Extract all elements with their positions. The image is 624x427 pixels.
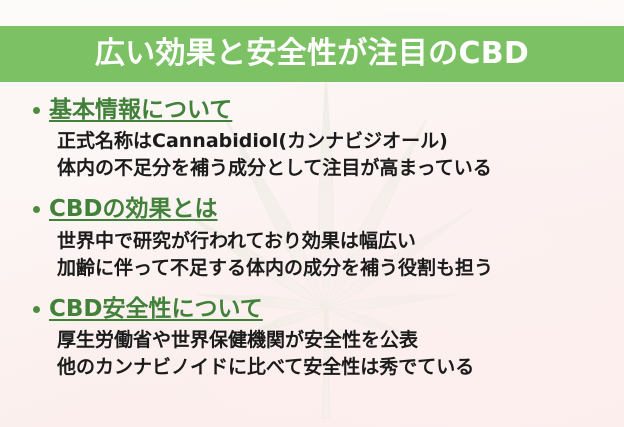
section-heading-row: 基本情報について: [0, 95, 624, 125]
body-line: 加齢に伴って不足する体内の成分を補う役割も担う: [57, 255, 624, 282]
bullet-dot-icon: [33, 206, 40, 213]
body-line: 体内の不足分を補う成分として注目が高まっている: [57, 155, 624, 182]
section-heading-row: CBD安全性について: [0, 294, 624, 324]
section-basic-info: 基本情報について 正式名称はCannabidiol(カンナビジオール) 体内の不…: [0, 95, 624, 182]
body-line: 世界中で研究が行われており効果は幅広い: [57, 228, 624, 255]
slide: 広い効果と安全性が注目のCBD 基本情報について 正式名称はCannabidio…: [0, 0, 624, 427]
section-cbd-effects: CBDの効果とは 世界中で研究が行われており効果は幅広い 加齢に伴って不足する体…: [0, 194, 624, 281]
section-cbd-safety: CBD安全性について 厚生労働省や世界保健機関が安全性を公表 他のカンナビノイド…: [0, 294, 624, 381]
bullet-dot-icon: [33, 107, 40, 114]
section-body: 正式名称はCannabidiol(カンナビジオール) 体内の不足分を補う成分とし…: [0, 128, 624, 182]
page-title: 広い効果と安全性が注目のCBD: [95, 39, 529, 69]
section-heading-label: CBD安全性について: [49, 294, 263, 324]
content-body: 基本情報について 正式名称はCannabidiol(カンナビジオール) 体内の不…: [0, 95, 624, 381]
section-heading-label: CBDの効果とは: [49, 194, 218, 224]
body-line: 正式名称はCannabidiol(カンナビジオール): [57, 128, 624, 155]
section-heading-label: 基本情報について: [49, 95, 232, 125]
section-heading-row: CBDの効果とは: [0, 194, 624, 224]
body-line: 他のカンナビノイドに比べて安全性は秀でている: [57, 354, 624, 381]
body-line: 厚生労働省や世界保健機関が安全性を公表: [57, 327, 624, 354]
section-body: 厚生労働省や世界保健機関が安全性を公表 他のカンナビノイドに比べて安全性は秀でて…: [0, 327, 624, 381]
bullet-dot-icon: [33, 306, 40, 313]
section-body: 世界中で研究が行われており効果は幅広い 加齢に伴って不足する体内の成分を補う役割…: [0, 228, 624, 282]
title-banner: 広い効果と安全性が注目のCBD: [0, 26, 624, 82]
